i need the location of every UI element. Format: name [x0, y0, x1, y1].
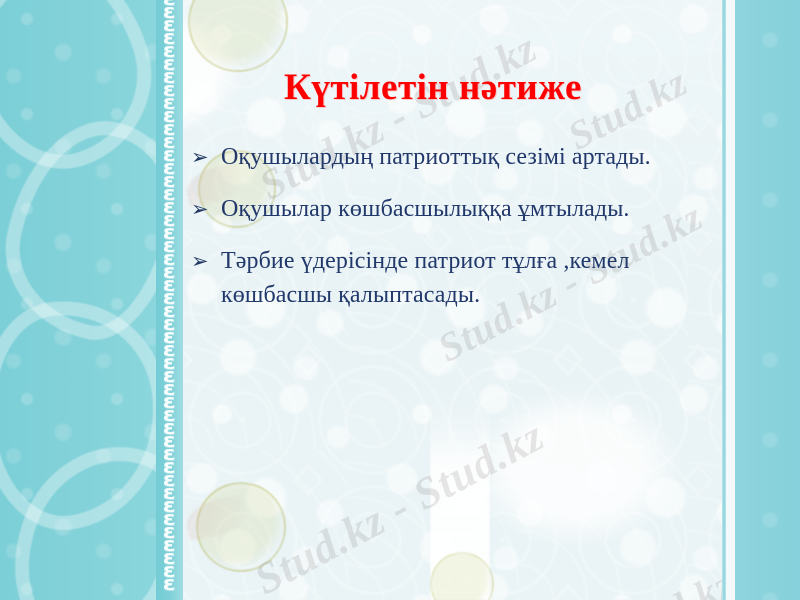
slide-title: Күтілетін нәтиже: [183, 66, 683, 110]
slide-content: Күтілетін нәтиже ➢ Оқушылардың патриотты…: [183, 0, 722, 600]
list-item-text: Тәрбие үдерісінде патриот тұлға ,кемел к…: [221, 244, 719, 312]
right-gap: [726, 0, 735, 600]
arrow-bullet-icon: ➢: [191, 140, 221, 174]
band-texture: [735, 0, 800, 600]
braid-glyph-icon: Ɛ: [163, 579, 176, 592]
list-item: ➢ Оқушылар көшбасшылыққа ұмтылады.: [191, 192, 719, 226]
braid-glyph-column: ƐƐƐƐƐƐƐƐƐƐƐƐƐƐƐƐƐƐƐƐƐƐƐƐƐƐƐƐƐƐƐƐƐƐƐƐƐƐƐƐ…: [156, 0, 183, 600]
list-item-text: Оқушылар көшбасшылыққа ұмтылады.: [221, 192, 719, 226]
list-item-text: Оқушылардың патриоттық сезімі артады.: [221, 140, 719, 174]
bullet-list: ➢ Оқушылардың патриоттық сезімі артады. …: [191, 140, 719, 330]
left-decorative-band: [0, 0, 156, 600]
braided-divider-strip: ƐƐƐƐƐƐƐƐƐƐƐƐƐƐƐƐƐƐƐƐƐƐƐƐƐƐƐƐƐƐƐƐƐƐƐƐƐƐƐƐ…: [156, 0, 183, 600]
right-decorative-band: [735, 0, 800, 600]
slide-canvas: Stud.kz - Stud.kz Stud.kz - Stud.kz Stud…: [0, 0, 800, 600]
arrow-bullet-icon: ➢: [191, 192, 221, 226]
list-item: ➢ Тәрбие үдерісінде патриот тұлға ,кемел…: [191, 244, 719, 312]
list-item: ➢ Оқушылардың патриоттық сезімі артады.: [191, 140, 719, 174]
arrow-bullet-icon: ➢: [191, 244, 221, 278]
